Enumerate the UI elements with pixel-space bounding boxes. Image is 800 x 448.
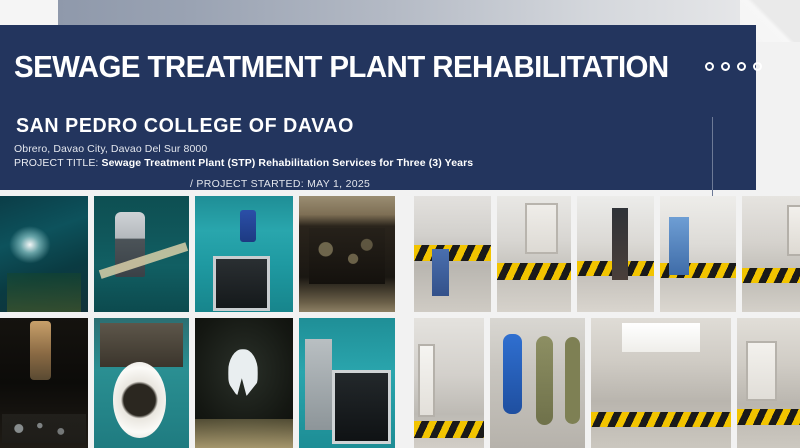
photo-sludge-pit (299, 196, 395, 312)
photo-stp-equipment-room-2 (737, 318, 800, 448)
photo-sludge-pit-image (299, 196, 395, 312)
photo-team-inspecting (577, 196, 654, 312)
collage-group-separator (401, 196, 408, 312)
photo-seated-technician-panel (742, 196, 800, 312)
photo-panel-room-worker-image (414, 318, 484, 448)
photo-worker-blue-shirt-image (660, 196, 736, 312)
photo-panel-room-worker (414, 318, 484, 448)
decorative-circles (705, 62, 762, 71)
circle-icon-3 (737, 62, 746, 71)
photo-stp-equipment-room-image (591, 318, 731, 448)
project-title-label: PROJECT TITLE: (14, 157, 98, 169)
photo-open-hatch-tank-image (299, 318, 395, 448)
photo-worker-blue-shirt (660, 196, 736, 312)
page-title: SEWAGE TREATMENT PLANT REHABILITATION (14, 51, 669, 82)
organization-address: Obrero, Davao City, Davao Del Sur 8000 (14, 143, 207, 155)
photo-dark-pipe-interior-image (195, 318, 293, 448)
photo-dark-pipe-interior (195, 318, 293, 448)
photo-flooded-black-water-image (0, 318, 88, 448)
project-start-date: / PROJECT STARTED: MAY 1, 2025 (190, 178, 370, 190)
collage-group-separator (401, 318, 408, 448)
photo-row-top (0, 196, 800, 312)
photo-mech-room-digging-image (414, 196, 491, 312)
photo-control-panel-work (497, 196, 571, 312)
photo-filter-vessels (490, 318, 585, 448)
project-title-line: PROJECT TITLE: Sewage Treatment Plant (S… (14, 157, 473, 169)
photo-stp-equipment-room-2-image (737, 318, 800, 448)
photo-open-manhole-blue-drum (195, 196, 293, 312)
photo-seated-technician-panel-image (742, 196, 800, 312)
photo-row-bottom (0, 318, 800, 448)
title-header-panel: SEWAGE TREATMENT PLANT REHABILITATION SA… (0, 25, 756, 190)
photo-worker-with-pole-image (94, 196, 189, 312)
photo-diver-in-tank-image (0, 196, 88, 312)
photo-open-hatch-tank (299, 318, 395, 448)
photo-sack-of-sludge-image (94, 318, 189, 448)
presentation-slide: SEWAGE TREATMENT PLANT REHABILITATION SA… (0, 0, 800, 448)
project-title-value: Sewage Treatment Plant (STP) Rehabilitat… (101, 157, 473, 169)
photo-team-inspecting-image (577, 196, 654, 312)
photo-mech-room-digging (414, 196, 491, 312)
photo-sack-of-sludge (94, 318, 189, 448)
photo-diver-in-tank (0, 196, 88, 312)
photo-control-panel-work-image (497, 196, 571, 312)
circle-icon-4 (753, 62, 762, 71)
photo-filter-vessels-image (490, 318, 585, 448)
organization-name: SAN PEDRO COLLEGE OF DAVAO (16, 115, 354, 138)
circle-icon-1 (705, 62, 714, 71)
circle-icon-2 (721, 62, 730, 71)
photo-worker-with-pole (94, 196, 189, 312)
photo-stp-equipment-room (591, 318, 731, 448)
photo-collage (0, 196, 800, 448)
photo-open-manhole-blue-drum-image (195, 196, 293, 312)
photo-flooded-black-water (0, 318, 88, 448)
title-row: SEWAGE TREATMENT PLANT REHABILITATION (14, 51, 762, 82)
